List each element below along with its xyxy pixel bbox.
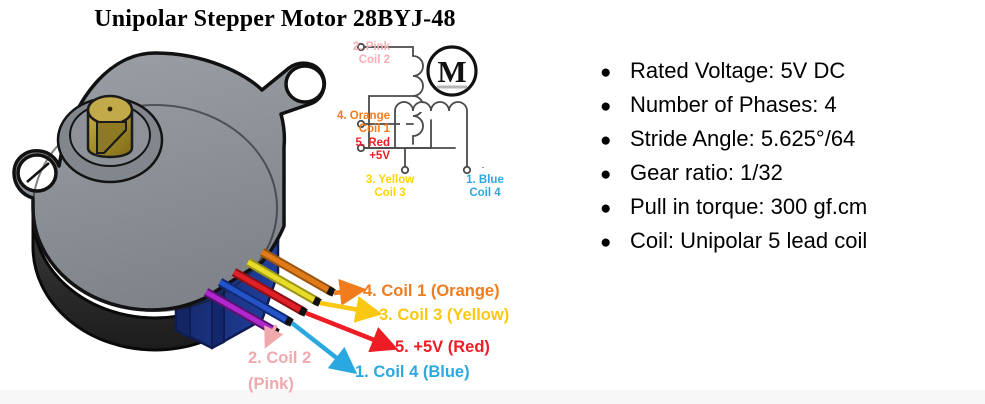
spec-value: Rated Voltage: 5V DC [630, 54, 845, 88]
bullet-icon: ● [600, 90, 630, 124]
schematic-label-yellow: 3. Yellow Coil 3 [345, 174, 435, 200]
list-item: ● Pull in torque: 300 gf.cm [600, 190, 985, 224]
list-item: ● Rated Voltage: 5V DC [600, 54, 985, 88]
bullet-icon: ● [600, 158, 630, 192]
list-item: ● Number of Phases: 4 [600, 88, 985, 122]
arrow-orange [334, 290, 360, 293]
spec-value: Gear ratio: 1/32 [630, 156, 783, 190]
schematic-label-pink: 2. Pink Coil 2 [280, 41, 390, 67]
spec-value: Stride Angle: 5.625°/64 [630, 122, 855, 156]
callout-label-yellow: 3. Coil 3 (Yellow) [379, 306, 509, 325]
motor-symbol-letter: M [437, 54, 466, 89]
list-item: ● Stride Angle: 5.625°/64 [600, 122, 985, 156]
schematic-label-red: 5. Red +5V [270, 137, 390, 163]
callout-label-blue: 1. Coil 4 (Blue) [355, 363, 470, 382]
spec-value: Coil: Unipolar 5 lead coil [630, 224, 867, 258]
coil-schematic: M 2. Pink Coil 2 4. Orange Coil 1 5. Red… [285, 36, 550, 216]
list-item: ● Coil: Unipolar 5 lead coil [600, 224, 985, 258]
schematic-label-orange: 4. Orange Coil 1 [270, 110, 390, 136]
arrow-yellow [320, 303, 376, 313]
bullet-icon: ● [600, 192, 630, 226]
callout-label-pink-line2: (Pink) [248, 375, 294, 394]
bullet-icon: ● [600, 226, 630, 260]
bullet-icon: ● [600, 56, 630, 90]
motor-symbol: M [428, 47, 476, 95]
bullet-icon: ● [600, 124, 630, 158]
spec-value: Number of Phases: 4 [630, 88, 837, 122]
callout-label-pink-line1: 2. Coil 2 [248, 349, 311, 368]
spec-list: ● Rated Voltage: 5V DC ● Number of Phase… [600, 54, 985, 258]
figure-root: Unipolar Stepper Motor 28BYJ-48 [0, 0, 985, 404]
spec-value: Pull in torque: 300 gf.cm [630, 190, 867, 224]
arrow-pink [267, 325, 276, 344]
callout-label-orange: 4. Coil 1 (Orange) [363, 282, 500, 301]
callout-label-red: 5. +5V (Red) [395, 338, 490, 357]
schematic-label-blue: 1. Blue Coil 4 [440, 174, 530, 200]
list-item: ● Gear ratio: 1/32 [600, 156, 985, 190]
